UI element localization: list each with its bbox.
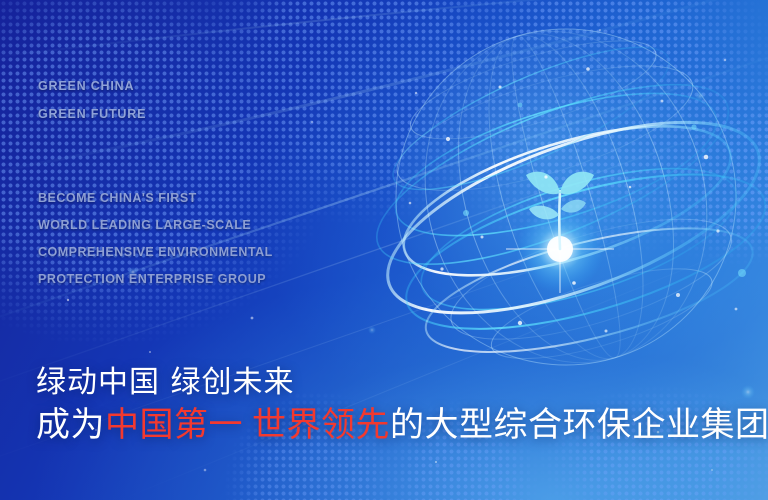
mission-line-1: BECOME CHINA'S FIRST <box>38 185 273 212</box>
headline-highlight-world-leading: 世界领先 <box>252 405 390 445</box>
hero-banner: GREEN CHINA GREEN FUTURE BECOME CHINA'S … <box>0 0 768 500</box>
headline-prefix: 成为 <box>36 405 105 445</box>
wireframe-globe <box>378 24 754 370</box>
headline-highlight-china-first: 中国第一 <box>105 405 243 445</box>
sprout-icon <box>526 172 594 249</box>
headline-suffix: 的大型综合环保企业集团 <box>390 405 768 445</box>
headline-line-1: 绿动中国 绿创未来 <box>36 363 768 403</box>
headline-block: 绿动中国 绿创未来 成为中国第一世界领先的大型综合环保企业集团 <box>36 363 768 447</box>
mission-line-2: WORLD LEADING LARGE-SCALE <box>38 212 273 239</box>
headline-line-2: 成为中国第一世界领先的大型综合环保企业集团 <box>36 403 768 447</box>
mission-line-4: PROTECTION ENTERPRISE GROUP <box>38 266 273 293</box>
mission-line-3: COMPREHENSIVE ENVIRONMENTAL <box>38 239 273 266</box>
tagline-block: GREEN CHINA GREEN FUTURE <box>38 72 146 128</box>
tagline-line-1: GREEN CHINA <box>38 72 146 100</box>
mission-block: BECOME CHINA'S FIRST WORLD LEADING LARGE… <box>38 185 273 293</box>
tagline-line-2: GREEN FUTURE <box>38 100 146 128</box>
